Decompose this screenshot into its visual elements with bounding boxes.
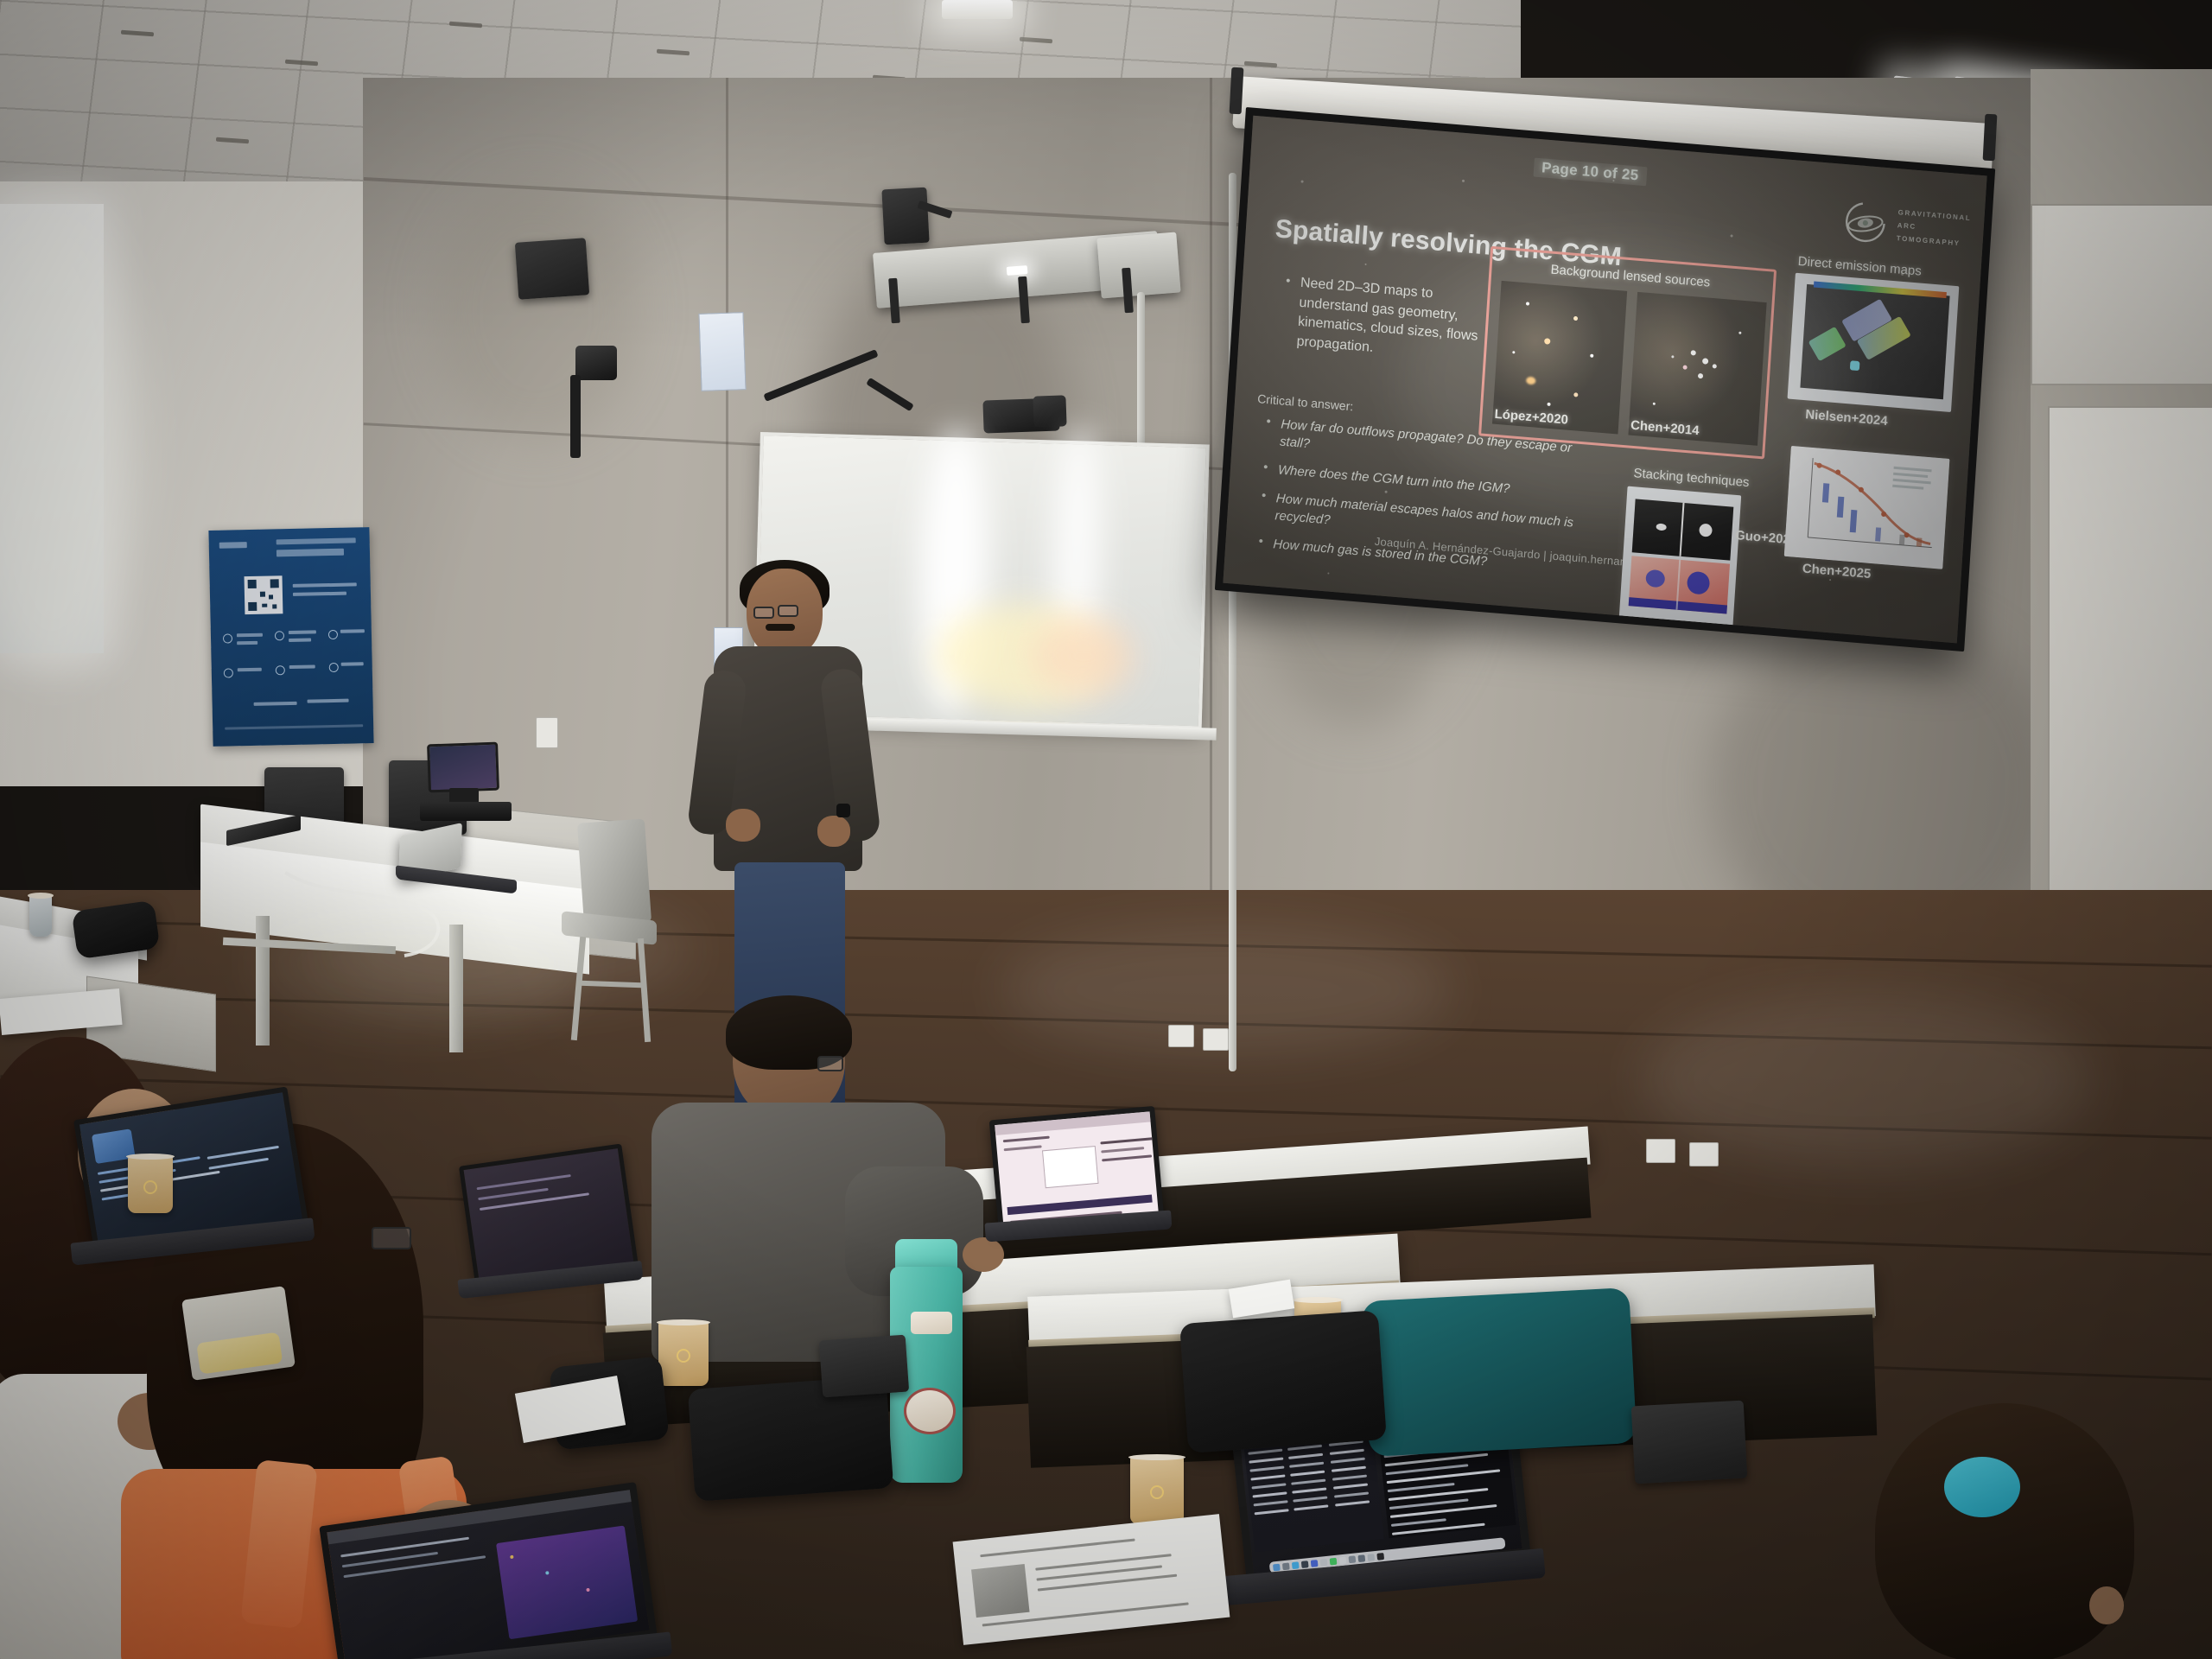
glasses-icon [817,1056,843,1071]
bench-chair-2[interactable] [1631,1401,1748,1484]
wall-speaker [515,238,589,300]
metal-chair[interactable] [577,818,652,926]
wall-outlet-d[interactable] [1689,1142,1719,1166]
wall-outlet-b[interactable] [1203,1028,1229,1051]
slide-bullet: Need 2D–3D maps to understand gas geomet… [1280,272,1481,366]
ceiling-speaker [881,188,929,245]
window-light [0,204,104,653]
cup-logo [1150,1485,1164,1499]
cup-logo [143,1180,157,1194]
attendee-ear [2089,1586,2124,1624]
control-tablet-podium[interactable] [427,742,499,793]
paper-coffee-cup-3 [1130,1457,1184,1524]
slide-main-bullets: Need 2D–3D maps to understand gas geomet… [1280,272,1481,370]
profile-figure [1784,446,1950,569]
presenter-right-hand [817,816,850,847]
teal-backpack-right [1362,1287,1637,1457]
presenter-mustache [766,624,795,631]
black-backpack-right [1179,1310,1387,1453]
slide-page-indicator: Page 10 of 25 [1533,158,1647,187]
bottle-sticker-top [911,1312,952,1334]
cup-logo [677,1349,690,1363]
glasses-icon [372,1227,411,1249]
attendee-teal-scrunchie-front-right [1875,1391,2212,1659]
logo-wordmark: GRAVITATIONAL ARC TOMOGRAPHY [1896,207,1971,251]
presenter-left-hand [726,809,760,842]
right-wall-panel-upper [2031,204,2212,385]
glasses-icon-right [778,605,798,617]
wall-notice [698,312,746,391]
lecture-hall-photo: Page 10 of 25 Spatially resolving the CG… [0,0,2212,1659]
bottle-side-table [29,895,52,937]
glasses-icon [753,607,774,619]
tablet-base [420,802,512,821]
profile-caption: Chen+2025 [1802,561,1871,581]
bench-chair-1[interactable] [819,1335,909,1398]
attendee-hand [963,1237,1004,1272]
presentation-slide: Page 10 of 25 Spatially resolving the CG… [1223,116,1986,644]
ceiling-downlight [942,0,1013,19]
wall-light-fixture-right [1096,232,1180,298]
paper-coffee-cup-2 [658,1322,709,1386]
lensed-sources-highlight-box: Background lensed sources López+2020 [1478,246,1777,460]
desk-cable [259,864,484,976]
paper-coffee-cup-1 [128,1156,173,1213]
bottle-sticker-bottom [904,1388,956,1434]
slide-question-bullets: How far do outflows propagate? Do they e… [1254,415,1591,590]
direct-emission-figure [1788,273,1960,412]
direct-emission-caption: Nielsen+2024 [1805,407,1888,429]
teal-scrunchie [1944,1457,2020,1517]
light-indicator [1007,265,1028,276]
gravitational-arc-tomography-logo [1839,195,1892,250]
popcorn-bag [181,1286,296,1381]
wall-outlet-a[interactable] [1168,1025,1194,1047]
wall-outlet-c[interactable] [1646,1139,1675,1163]
wristwatch [836,804,850,817]
wall-outlet-e[interactable] [536,717,558,748]
information-poster [208,527,373,747]
slide-critical-label: Critical to answer: [1257,391,1354,413]
projector-head [575,346,617,380]
stacking-heading: Stacking techniques [1633,466,1750,490]
qr-code [245,575,283,614]
stacking-figure [1619,486,1742,628]
projection-screen: Page 10 of 25 Spatially resolving the CG… [1215,107,1995,652]
